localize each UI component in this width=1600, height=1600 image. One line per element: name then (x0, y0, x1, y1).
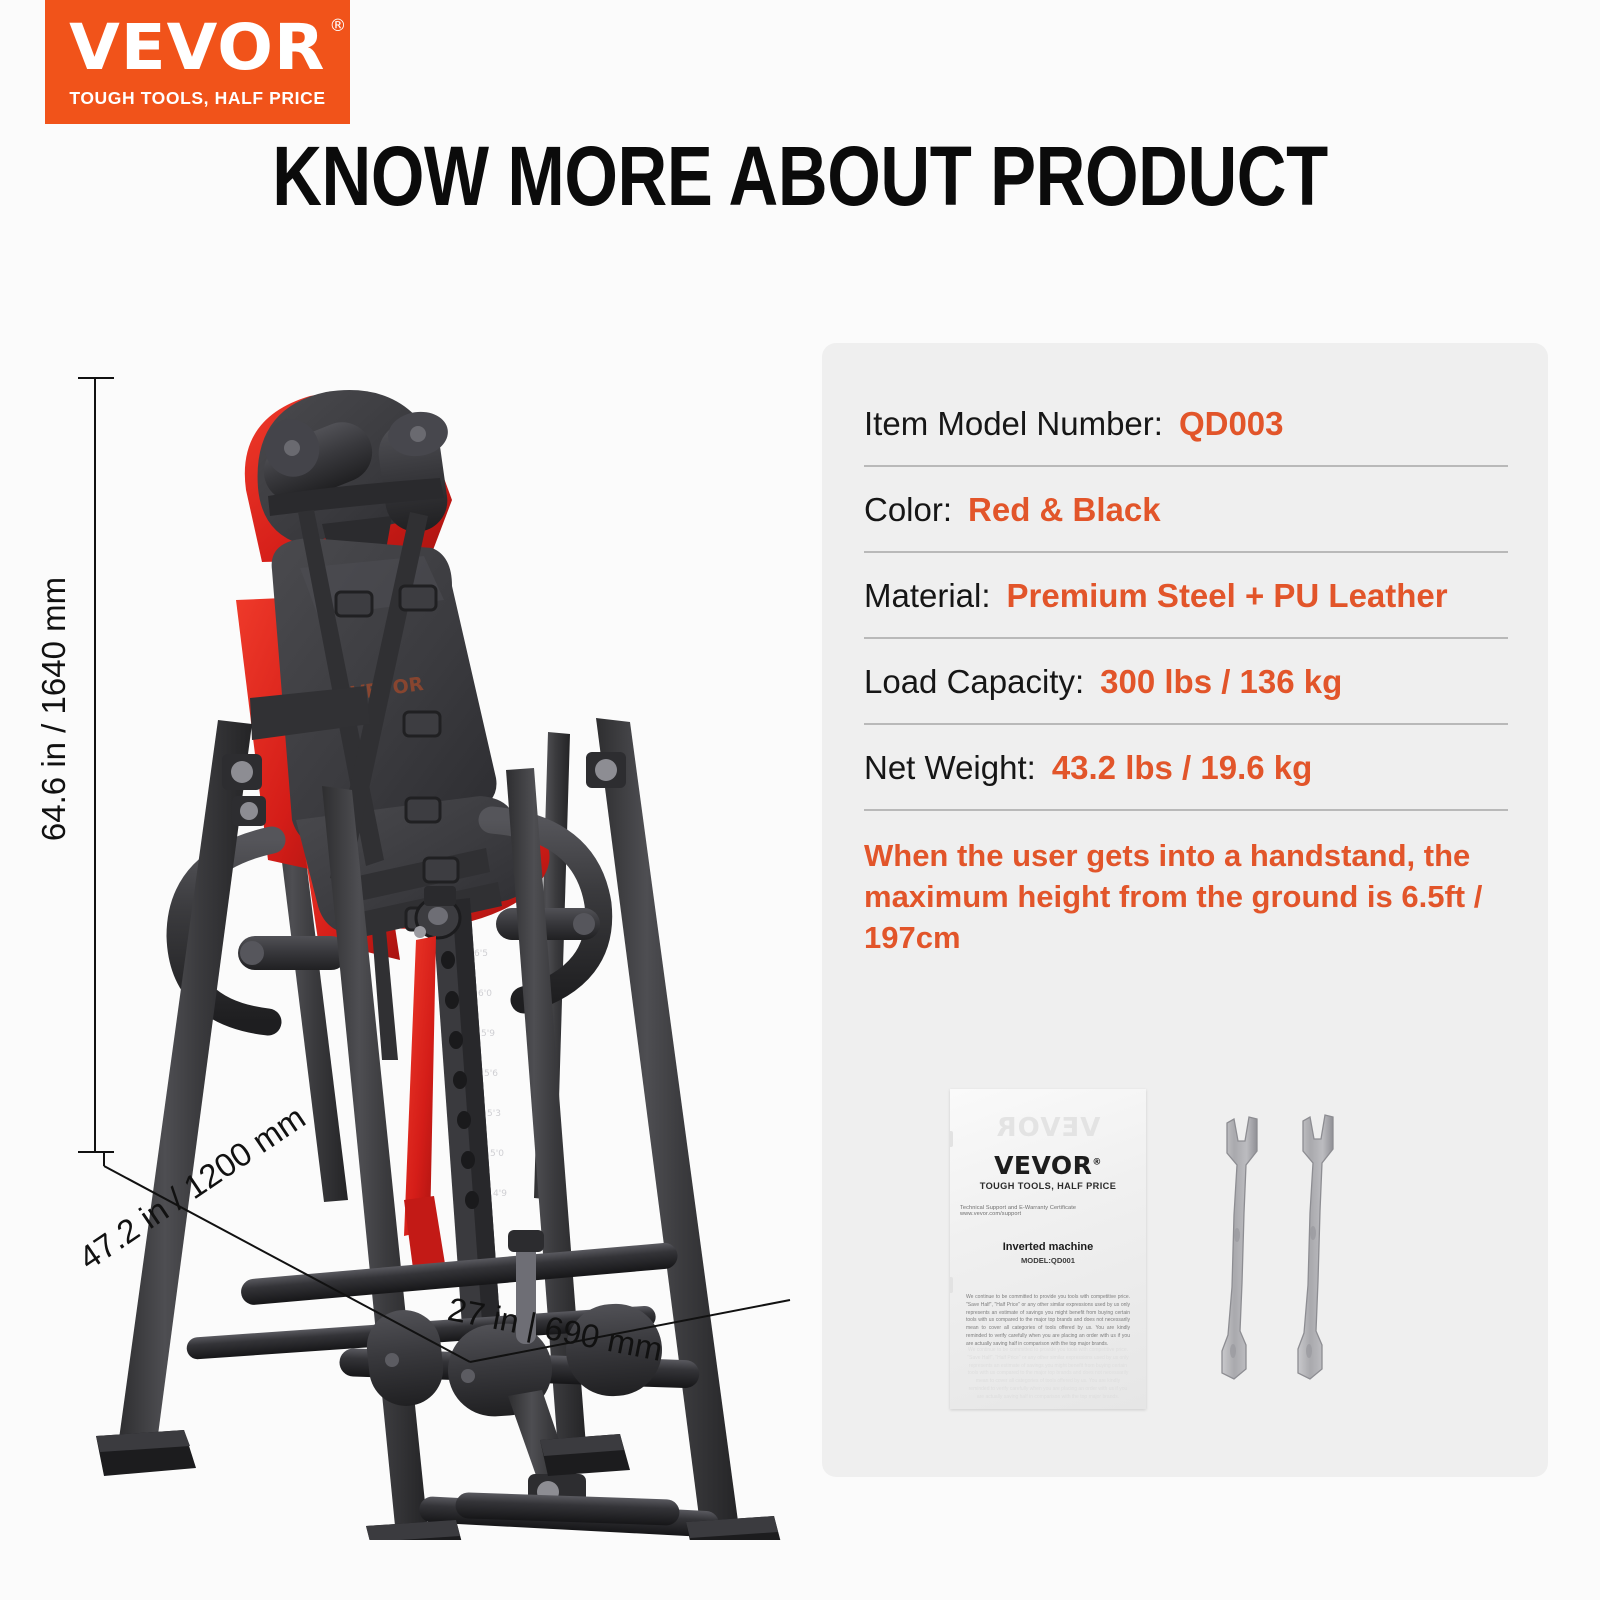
spec-label-load-capacity: Load Capacity: (864, 663, 1084, 701)
spec-value-material: Premium Steel + PU Leather (1007, 577, 1448, 615)
spec-divider (864, 809, 1508, 811)
spec-divider (864, 723, 1508, 725)
manual-tagline: TOUGH TOOLS, HALF PRICE (950, 1181, 1146, 1191)
vevor-logo: VEVOR® TOUGH TOOLS, HALF PRICE (45, 0, 350, 124)
user-manual-image: VEVOR VEVOR® TOUGH TOOLS, HALF PRICE Tec… (950, 1089, 1146, 1409)
spec-value-color: Red & Black (968, 491, 1161, 529)
infographic-page: VEVOR® TOUGH TOOLS, HALF PRICE KNOW MORE… (0, 0, 1600, 1600)
manual-registered-icon: ® (1092, 1158, 1102, 1168)
brand-name: VEVOR (69, 11, 325, 84)
spec-value-net-weight: 43.2 lbs / 19.6 kg (1052, 749, 1313, 787)
svg-text:5'9: 5'9 (481, 1029, 495, 1039)
svg-text:6'0: 6'0 (478, 989, 492, 999)
dimension-height-label: 64.6 in / 1640 mm (35, 577, 73, 841)
svg-text:5'3: 5'3 (487, 1109, 501, 1119)
manual-body-text: We continue to be committed to provide y… (966, 1294, 1130, 1348)
handstand-height-note: When the user gets into a handstand, the… (864, 835, 1508, 959)
brand-tagline: TOUGH TOOLS, HALF PRICE (69, 88, 325, 109)
manual-ghost-watermark: VEVOR (996, 1113, 1101, 1143)
spec-label-model: Item Model Number: (864, 405, 1163, 443)
spec-row-color: Color: Red & Black (864, 491, 1508, 553)
spec-row-load-capacity: Load Capacity: 300 lbs / 136 kg (864, 663, 1508, 725)
manual-model-line: MODEL:QD001 (950, 1256, 1146, 1265)
spec-row-material: Material: Premium Steel + PU Leather (864, 577, 1508, 639)
spec-label-color: Color: (864, 491, 952, 529)
spec-divider (864, 551, 1508, 553)
spec-value-load-capacity: 300 lbs / 136 kg (1100, 663, 1342, 701)
svg-text:5'0: 5'0 (490, 1149, 504, 1159)
spec-value-model: QD003 (1179, 405, 1284, 443)
specs-panel: Item Model Number: QD003 Color: Red & Bl… (822, 343, 1548, 1477)
spec-divider (864, 465, 1508, 467)
open-end-wrench-icon-1 (1216, 1107, 1268, 1385)
manual-faint-backside-text: We continue to be committed to provide y… (966, 1347, 1130, 1401)
product-image-inversion-table: VEVOR (0, 300, 820, 1540)
spec-label-net-weight: Net Weight: (864, 749, 1036, 787)
svg-text:4'9: 4'9 (493, 1189, 507, 1199)
manual-product-title: Inverted machine (950, 1241, 1146, 1253)
page-title: KNOW MORE ABOUT PRODUCT (144, 128, 1456, 225)
inversion-table-svg: VEVOR (0, 300, 820, 1540)
registered-trademark-icon: ® (329, 18, 346, 35)
manual-support-line: Technical Support and E-Warranty Certifi… (960, 1205, 1136, 1217)
svg-text:6'5: 6'5 (474, 949, 488, 959)
spec-row-model: Item Model Number: QD003 (864, 405, 1508, 467)
spec-label-material: Material: (864, 577, 991, 615)
manual-brand-logo: VEVOR® (950, 1151, 1146, 1180)
spec-row-net-weight: Net Weight: 43.2 lbs / 19.6 kg (864, 749, 1508, 811)
svg-text:5'6: 5'6 (484, 1069, 498, 1079)
accessories-group: VEVOR VEVOR® TOUGH TOOLS, HALF PRICE Tec… (864, 1085, 1504, 1415)
spec-divider (864, 637, 1508, 639)
open-end-wrench-icon-2 (1292, 1105, 1344, 1385)
brand-wordmark: VEVOR® (69, 16, 325, 79)
